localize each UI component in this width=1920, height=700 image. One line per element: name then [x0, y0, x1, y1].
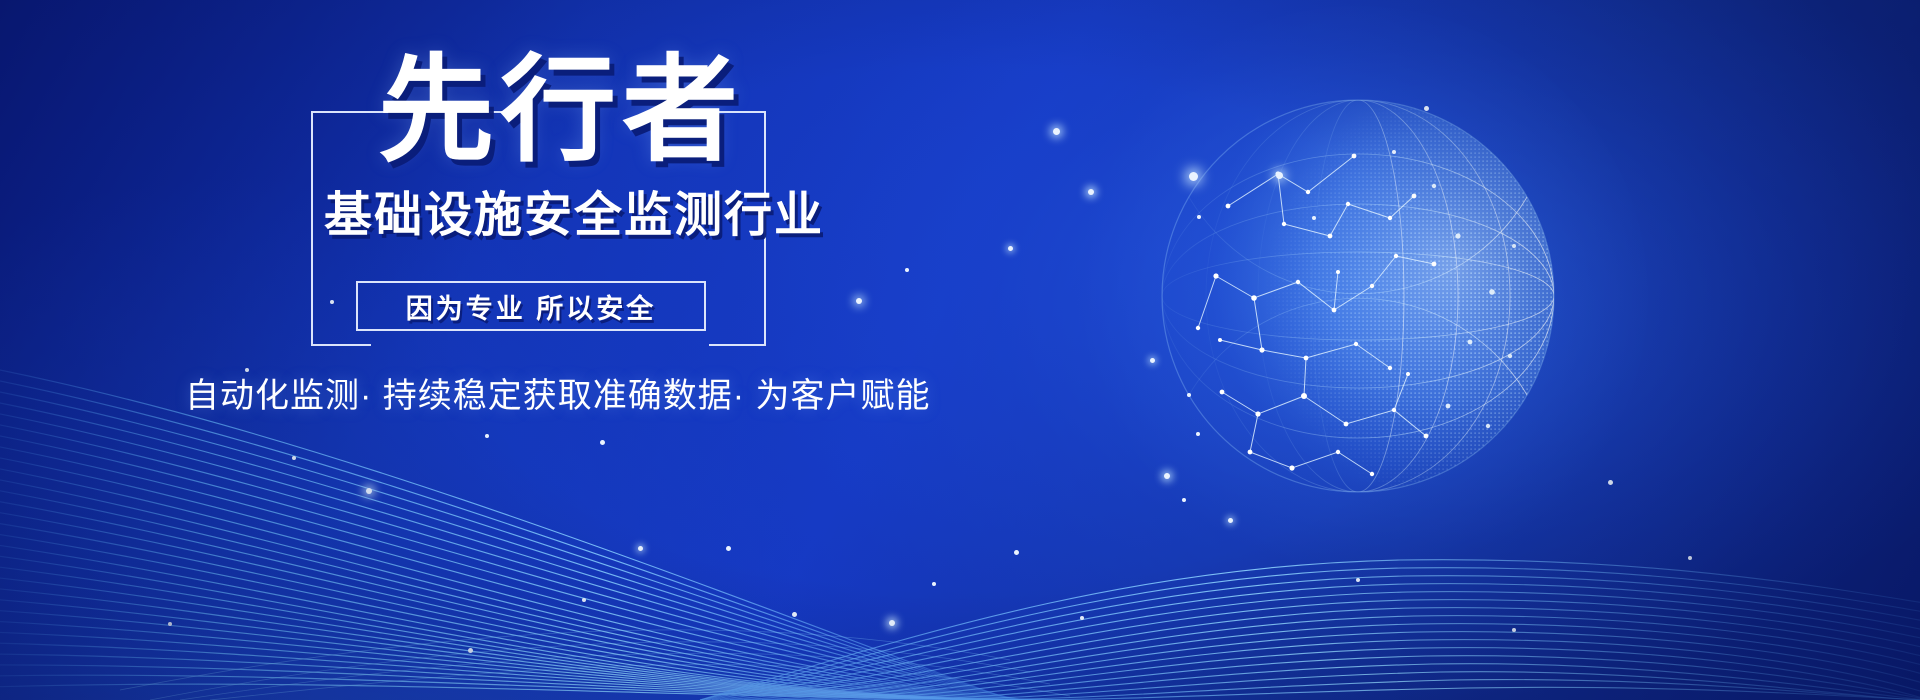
tagline-box: 因为专业 所以安全: [356, 281, 706, 331]
frame-bottom-left-line: [311, 344, 371, 346]
banner-main-title: 先行者: [378, 52, 744, 168]
frame-left-line: [311, 111, 313, 344]
banner-text-block: 先行者 基础设施安全监测行业 因为专业 所以安全 自动化监测· 持续稳定获取准确…: [0, 0, 1000, 520]
banner-subtitle-industry: 基础设施安全监测行业: [324, 192, 824, 240]
hero-banner: 先行者 基础设施安全监测行业 因为专业 所以安全 自动化监测· 持续稳定获取准确…: [0, 0, 1920, 700]
frame-bottom-right-line: [709, 344, 766, 346]
banner-slogan: 自动化监测· 持续稳定获取准确数据· 为客户赋能: [185, 368, 931, 417]
tagline-text: 因为专业 所以安全: [406, 287, 657, 326]
